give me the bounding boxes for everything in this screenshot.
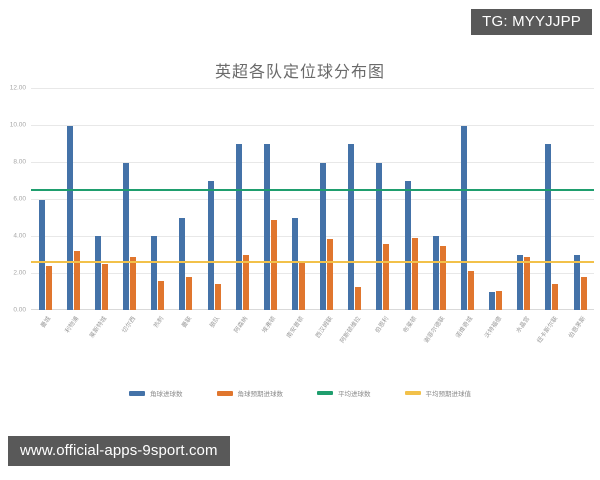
bar-expected-goals — [383, 244, 389, 310]
x-axis-tick: 莱斯特城 — [87, 312, 115, 376]
x-axis-label: 谢菲尔德联 — [421, 314, 446, 345]
y-tick-label: 2.00 — [13, 269, 26, 276]
x-axis-label: 纽卡斯尔联 — [534, 314, 559, 345]
bar-goals — [151, 236, 157, 310]
bar-group — [369, 88, 397, 310]
x-axis-tick: 沃特福德 — [482, 312, 510, 376]
bar-group — [566, 88, 594, 310]
bar-expected-goals — [186, 277, 192, 310]
y-tick-label: 10.00 — [10, 122, 26, 129]
x-axis-label: 西汉姆联 — [312, 314, 334, 339]
bar-expected-goals — [440, 246, 446, 310]
bar-group — [256, 88, 284, 310]
y-axis: 12.00 10.00 8.00 6.00 4.00 2.00 0.00 — [0, 88, 30, 310]
bar-expected-goals — [299, 262, 305, 310]
x-axis-tick: 谢菲尔德联 — [425, 312, 453, 376]
bar-goals — [376, 163, 382, 310]
telegram-watermark: TG: MYYJJPP — [471, 9, 592, 35]
legend-item[interactable]: 平均进球数 — [317, 388, 371, 398]
x-axis-tick: 埃弗顿 — [256, 312, 284, 376]
bar-group — [59, 88, 87, 310]
bar-group — [31, 88, 59, 310]
x-axis-tick: 西汉姆联 — [313, 312, 341, 376]
legend-item[interactable]: 平均预期进球值 — [405, 388, 472, 398]
bar-goals — [95, 236, 101, 310]
x-axis-label: 诺维奇城 — [453, 314, 475, 339]
bar-expected-goals — [552, 284, 558, 310]
bar-group — [115, 88, 143, 310]
bar-goals — [208, 181, 214, 310]
bar-goals — [461, 126, 467, 310]
bar-group — [425, 88, 453, 310]
legend-label: 平均进球数 — [338, 388, 371, 398]
x-axis-tick: 曼城 — [31, 312, 59, 376]
bar-goals — [545, 144, 551, 310]
x-axis-tick: 水晶宫 — [510, 312, 538, 376]
bar-group — [538, 88, 566, 310]
x-axis-label: 南安普顿 — [284, 314, 306, 339]
legend-item[interactable]: 角球预期进球数 — [217, 388, 284, 398]
bar-groups — [31, 88, 594, 310]
legend-label: 平均预期进球值 — [426, 388, 472, 398]
x-axis-label: 伯恩利 — [372, 314, 390, 334]
bar-goals — [348, 144, 354, 310]
bar-group — [397, 88, 425, 310]
bar-expected-goals — [496, 291, 502, 310]
bar-goals — [320, 163, 326, 310]
bar-expected-goals — [271, 220, 277, 310]
bar-expected-goals — [524, 257, 530, 310]
legend-swatch-icon — [129, 391, 145, 396]
bar-goals — [292, 218, 298, 310]
x-axis-label: 利物浦 — [63, 314, 81, 334]
legend-label: 角球进球数 — [150, 388, 183, 398]
bar-expected-goals — [158, 281, 164, 310]
x-axis-label: 莱斯特城 — [87, 314, 109, 339]
x-axis-label: 曼联 — [179, 314, 193, 329]
chart-legend: 角球进球数角球预期进球数平均进球数平均预期进球值 — [0, 388, 600, 398]
legend-swatch-icon — [317, 391, 333, 395]
bar-group — [200, 88, 228, 310]
bar-group — [87, 88, 115, 310]
legend-swatch-icon — [405, 391, 421, 395]
bar-goals — [123, 163, 129, 310]
x-axis-tick: 利物浦 — [59, 312, 87, 376]
x-axis-label: 埃弗顿 — [260, 314, 278, 334]
bar-expected-goals — [468, 271, 474, 310]
bar-expected-goals — [46, 266, 52, 310]
x-axis-tick: 诺维奇城 — [453, 312, 481, 376]
y-tick-label: 6.00 — [13, 196, 26, 203]
bar-group — [341, 88, 369, 310]
bar-expected-goals — [215, 284, 221, 310]
bar-goals — [236, 144, 242, 310]
bar-expected-goals — [74, 251, 80, 310]
legend-item[interactable]: 角球进球数 — [129, 388, 183, 398]
x-axis-label: 沃特福德 — [481, 314, 503, 339]
bar-goals — [264, 144, 270, 310]
site-url-watermark: www.official-apps-9sport.com — [8, 436, 230, 466]
bar-group — [453, 88, 481, 310]
x-axis-tick: 伯恩利 — [369, 312, 397, 376]
x-axis-label: 热刺 — [151, 314, 165, 329]
x-axis-label: 阿森纳 — [231, 314, 249, 334]
x-axis-tick: 切尔西 — [115, 312, 143, 376]
chart-page: TG: MYYJJPP 英超各队定位球分布图 12.00 10.00 8.00 … — [0, 0, 600, 480]
bar-expected-goals — [102, 264, 108, 310]
plot-area — [31, 88, 594, 310]
y-tick-label: 4.00 — [13, 233, 26, 240]
x-axis-label: 阿斯顿维拉 — [337, 314, 362, 345]
y-tick-label: 12.00 — [10, 85, 26, 92]
bar-goals — [489, 292, 495, 310]
chart-container: 英超各队定位球分布图 12.00 10.00 8.00 6.00 4.00 2.… — [0, 48, 600, 428]
y-tick-label: 0.00 — [13, 307, 26, 314]
bar-group — [228, 88, 256, 310]
x-axis-tick: 阿森纳 — [228, 312, 256, 376]
x-axis-label: 切尔西 — [119, 314, 137, 334]
bar-expected-goals — [327, 239, 333, 310]
bar-expected-goals — [412, 238, 418, 310]
x-axis-label: 狼队 — [207, 314, 221, 329]
x-axis-tick: 布莱顿 — [397, 312, 425, 376]
bar-goals — [433, 236, 439, 310]
bar-group — [482, 88, 510, 310]
legend-label: 角球预期进球数 — [238, 388, 284, 398]
bar-group — [510, 88, 538, 310]
bar-group — [144, 88, 172, 310]
bar-expected-goals — [130, 257, 136, 310]
x-axis-tick: 热刺 — [144, 312, 172, 376]
bar-group — [172, 88, 200, 310]
x-axis-label: 伯恩茅斯 — [566, 314, 588, 339]
bar-goals — [179, 218, 185, 310]
x-axis-tick: 狼队 — [200, 312, 228, 376]
x-axis-tick: 纽卡斯尔联 — [538, 312, 566, 376]
chart-title: 英超各队定位球分布图 — [0, 48, 600, 82]
x-axis: 曼城利物浦莱斯特城切尔西热刺曼联狼队阿森纳埃弗顿南安普顿西汉姆联阿斯顿维拉伯恩利… — [31, 312, 594, 376]
y-tick-label: 8.00 — [13, 158, 26, 165]
bar-group — [284, 88, 312, 310]
bar-goals — [39, 200, 45, 311]
bar-group — [313, 88, 341, 310]
x-axis-label: 布莱顿 — [400, 314, 418, 334]
legend-swatch-icon — [217, 391, 233, 396]
x-axis-tick: 南安普顿 — [284, 312, 312, 376]
average-goals-reference-line — [31, 189, 594, 191]
bar-expected-goals — [581, 277, 587, 310]
bar-expected-goals — [355, 287, 361, 310]
bar-goals — [67, 126, 73, 310]
x-axis-tick: 阿斯顿维拉 — [341, 312, 369, 376]
x-axis-tick: 伯恩茅斯 — [566, 312, 594, 376]
x-axis-tick: 曼联 — [172, 312, 200, 376]
average-expected-goals-reference-line — [31, 261, 594, 263]
x-axis-label: 水晶宫 — [513, 314, 531, 334]
plot-wrapper: 12.00 10.00 8.00 6.00 4.00 2.00 0.00 — [0, 88, 600, 378]
x-axis-label: 曼城 — [38, 314, 52, 329]
bar-goals — [405, 181, 411, 310]
